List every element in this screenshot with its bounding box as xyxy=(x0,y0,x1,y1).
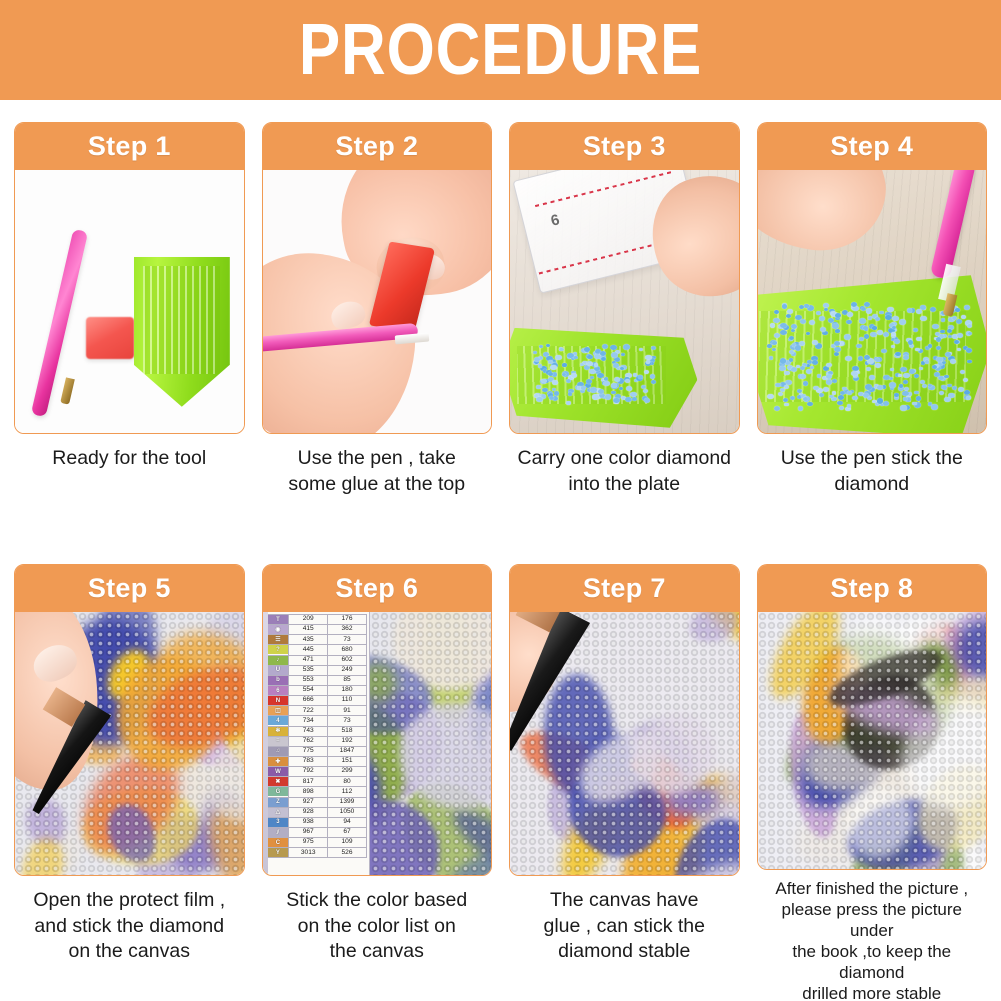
step-caption-8: After finished the picture , please pres… xyxy=(757,878,988,1001)
chart-symbol-cell: U xyxy=(267,665,289,675)
chart-count-cell: 151 xyxy=(328,756,367,766)
chart-color-swatch: ⫽ xyxy=(268,828,289,837)
chart-code-cell: 775 xyxy=(289,746,328,756)
color-chart-row: ✚783151 xyxy=(267,756,366,766)
chart-color-swatch: b xyxy=(268,676,289,685)
canvas-color-region xyxy=(684,612,738,647)
pink-pen-icon xyxy=(930,170,976,280)
chart-count-cell: 109 xyxy=(328,838,367,848)
color-chart-row: T209176 xyxy=(267,615,366,625)
chart-color-swatch: U xyxy=(268,666,289,675)
chart-code-cell: 554 xyxy=(289,685,328,695)
step-card-1: Step 1 xyxy=(14,122,245,434)
chart-edge-strip xyxy=(263,612,268,875)
chart-code-cell: 209 xyxy=(289,615,328,625)
step-caption-6: Stick the color based on the color list … xyxy=(262,888,493,965)
chart-count-cell: 299 xyxy=(328,767,367,777)
chart-symbol-cell: W xyxy=(267,767,289,777)
chart-count-cell: 1050 xyxy=(328,807,367,817)
chart-code-cell: 762 xyxy=(289,736,328,746)
chart-symbol-cell: ☰ xyxy=(267,635,289,645)
step-card-5: Step 5 xyxy=(14,564,245,876)
step-cell-6: Step 6 T209176◉415362☰43573?445680♪47160… xyxy=(262,564,493,1001)
color-chart-row: 6554180 xyxy=(267,685,366,695)
page-banner: PROCEDURE xyxy=(0,0,1001,100)
tool-photo-illustration xyxy=(15,170,244,433)
chart-symbol-cell: ✖ xyxy=(267,777,289,787)
step-cell-1: Step 1 Ready for the tool xyxy=(14,122,245,562)
chart-color-swatch: ✻ xyxy=(268,727,289,736)
chart-count-cell: 73 xyxy=(328,635,367,645)
chart-color-swatch: = xyxy=(268,737,289,746)
color-chart-row: ♪471602 xyxy=(267,655,366,665)
chart-and-canvas-illustration: T209176◉415362☰43573?445680♪471602U53524… xyxy=(263,612,492,875)
color-chart-row: △9281050 xyxy=(267,807,366,817)
chart-symbol-cell: 4 xyxy=(267,716,289,726)
color-chart-row: Y3013526 xyxy=(267,848,366,858)
step-cell-7: Step 7 The canvas have glue , can stick … xyxy=(509,564,740,1001)
color-chart-row: ?445680 xyxy=(267,645,366,655)
chart-color-swatch: ♫ xyxy=(268,747,289,756)
color-chart-row: 393894 xyxy=(267,817,366,827)
step-photo-5 xyxy=(15,612,244,875)
step-header-3: Step 3 xyxy=(510,123,739,170)
chart-symbol-cell: ♪ xyxy=(267,655,289,665)
color-chart-row: W792299 xyxy=(267,767,366,777)
steps-grid: Step 1 Ready for the tool Step 2 xyxy=(0,100,1001,1001)
green-tray-icon xyxy=(134,257,230,407)
step-header-8: Step 8 xyxy=(758,565,987,612)
chart-count-cell: 192 xyxy=(328,736,367,746)
glue-dipping-illustration xyxy=(263,170,492,433)
color-chart-table: T209176◉415362☰43573?445680♪471602U53524… xyxy=(267,614,367,858)
color-chart-row: 473473 xyxy=(267,716,366,726)
chart-color-swatch: ✖ xyxy=(268,777,289,786)
color-chart-row: Z9271399 xyxy=(267,797,366,807)
chart-color-swatch: T xyxy=(268,615,289,624)
chart-code-cell: 792 xyxy=(289,767,328,777)
chart-symbol-cell: C xyxy=(267,838,289,848)
chart-code-cell: 743 xyxy=(289,726,328,736)
chart-count-cell: 526 xyxy=(328,848,367,858)
chart-symbol-cell: Y xyxy=(267,848,289,858)
chart-symbol-cell: Z xyxy=(267,797,289,807)
step-header-1: Step 1 xyxy=(15,123,244,170)
chart-code-cell: 415 xyxy=(289,625,328,635)
chart-code-cell: 938 xyxy=(289,817,328,827)
glued-canvas-illustration xyxy=(510,612,739,875)
color-chart-row: ♫7751847 xyxy=(267,746,366,756)
color-chart-row: ⫽96767 xyxy=(267,827,366,837)
step-photo-6: T209176◉415362☰43573?445680♪471602U53524… xyxy=(263,612,492,875)
chart-code-cell: 3013 xyxy=(289,848,328,858)
chart-code-cell: 783 xyxy=(289,756,328,766)
step-card-4: Step 4 xyxy=(757,122,988,434)
step-header-2: Step 2 xyxy=(263,123,492,170)
chart-count-cell: 180 xyxy=(328,685,367,695)
chart-symbol-cell: G xyxy=(267,787,289,797)
chart-color-swatch: G xyxy=(268,787,289,796)
step-photo-7 xyxy=(510,612,739,875)
canvas-color-blobs xyxy=(758,612,987,869)
hand-icon xyxy=(758,170,894,259)
step-photo-2 xyxy=(263,170,492,433)
step-photo-8 xyxy=(758,612,987,869)
chart-color-swatch: ? xyxy=(268,645,289,654)
chart-code-cell: 553 xyxy=(289,675,328,685)
chart-color-swatch: △ xyxy=(268,808,289,817)
chart-color-swatch: 4 xyxy=(268,716,289,725)
color-chart-row: C975109 xyxy=(267,838,366,848)
chart-count-cell: 518 xyxy=(328,726,367,736)
step-caption-3: Carry one color diamond into the plate xyxy=(509,446,740,497)
chart-color-swatch: ✚ xyxy=(268,757,289,766)
step-card-6: Step 6 T209176◉415362☰43573?445680♪47160… xyxy=(262,564,493,876)
chart-symbol-cell: △ xyxy=(267,807,289,817)
color-chart-row: ◉415362 xyxy=(267,625,366,635)
step-caption-2: Use the pen , take some glue at the top xyxy=(262,446,493,497)
chart-symbol-cell: T xyxy=(267,615,289,625)
color-chart-body: T209176◉415362☰43573?445680♪471602U53524… xyxy=(267,615,366,858)
chart-symbol-cell: ♫ xyxy=(267,746,289,756)
chart-count-cell: 112 xyxy=(328,787,367,797)
chart-symbol-cell: ? xyxy=(267,645,289,655)
step-cell-3: Step 3 6 Carry one color diamond into th… xyxy=(509,122,740,562)
chart-symbol-cell: ✚ xyxy=(267,756,289,766)
chart-color-swatch: ♪ xyxy=(268,656,289,665)
chart-code-cell: 666 xyxy=(289,696,328,706)
step-cell-4: Step 4 Use the pen stick the diamond xyxy=(757,122,988,562)
step-cell-2: Step 2 Use the pen , take some glue at t… xyxy=(262,122,493,562)
color-chart-row: N666110 xyxy=(267,696,366,706)
chart-count-cell: 1399 xyxy=(328,797,367,807)
green-tray-icon xyxy=(510,328,697,428)
color-chart-row: U535249 xyxy=(267,665,366,675)
pen-tip-icon xyxy=(61,377,76,404)
chart-color-swatch: Z xyxy=(268,798,289,807)
step-photo-1 xyxy=(15,170,244,433)
chart-count-cell: 602 xyxy=(328,655,367,665)
chart-count-cell: 362 xyxy=(328,625,367,635)
color-chart-row: ☰43573 xyxy=(267,635,366,645)
chart-count-cell: 67 xyxy=(328,827,367,837)
chart-color-swatch: 6 xyxy=(268,686,289,695)
color-chart-row: ◫72291 xyxy=(267,706,366,716)
color-chart-row: G898112 xyxy=(267,787,366,797)
step-header-6: Step 6 xyxy=(263,565,492,612)
step-caption-5: Open the protect film , and stick the di… xyxy=(14,888,245,965)
canvas-art-illustration xyxy=(15,612,244,875)
chart-code-cell: 435 xyxy=(289,635,328,645)
step-header-5: Step 5 xyxy=(15,565,244,612)
chart-symbol-cell: N xyxy=(267,696,289,706)
pick-diamond-illustration xyxy=(758,170,987,433)
chart-count-cell: 85 xyxy=(328,675,367,685)
step-card-8: Step 8 xyxy=(757,564,988,870)
chart-symbol-cell: ✻ xyxy=(267,726,289,736)
step-card-3: Step 3 6 xyxy=(509,122,740,434)
chart-count-cell: 80 xyxy=(328,777,367,787)
chart-color-swatch: Y xyxy=(268,848,289,857)
chart-color-swatch: ◫ xyxy=(268,706,289,715)
color-chart-row: b55385 xyxy=(267,675,366,685)
step-caption-7: The canvas have glue , can stick the dia… xyxy=(509,888,740,965)
chart-code-cell: 928 xyxy=(289,807,328,817)
chart-code-cell: 722 xyxy=(289,706,328,716)
step-cell-8: Step 8 After finished the picture , plea… xyxy=(757,564,988,1001)
chart-color-swatch: W xyxy=(268,767,289,776)
finished-painting-illustration xyxy=(758,612,987,869)
chart-code-cell: 898 xyxy=(289,787,328,797)
chart-code-cell: 445 xyxy=(289,645,328,655)
chart-symbol-cell: 3 xyxy=(267,817,289,827)
chart-color-swatch: ☰ xyxy=(268,635,289,644)
chart-code-cell: 927 xyxy=(289,797,328,807)
chart-color-swatch: C xyxy=(268,838,289,847)
chart-symbol-cell: 6 xyxy=(267,685,289,695)
chart-count-cell: 110 xyxy=(328,696,367,706)
step-photo-3: 6 xyxy=(510,170,739,433)
color-chart-row: ✻743518 xyxy=(267,726,366,736)
chart-code-cell: 535 xyxy=(289,665,328,675)
color-chart-panel: T209176◉415362☰43573?445680♪471602U53524… xyxy=(263,612,370,875)
chart-symbol-cell: = xyxy=(267,736,289,746)
pink-pen-icon xyxy=(30,229,87,418)
chart-color-swatch: N xyxy=(268,696,289,705)
chart-count-cell: 680 xyxy=(328,645,367,655)
chart-color-swatch: 3 xyxy=(268,818,289,827)
chart-count-cell: 91 xyxy=(328,706,367,716)
chart-symbol-cell: ⫽ xyxy=(267,827,289,837)
step-header-4: Step 4 xyxy=(758,123,987,170)
chart-count-cell: 1847 xyxy=(328,746,367,756)
chart-color-swatch: ◉ xyxy=(268,625,289,634)
red-wax-icon xyxy=(86,317,134,359)
step-cell-5: Step 5 Open the protect film , and stick… xyxy=(14,564,245,1001)
step-card-7: Step 7 xyxy=(509,564,740,876)
step-caption-1: Ready for the tool xyxy=(14,446,245,472)
chart-code-cell: 975 xyxy=(289,838,328,848)
step-header-7: Step 7 xyxy=(510,565,739,612)
color-chart-row: =762192 xyxy=(267,736,366,746)
chart-count-cell: 249 xyxy=(328,665,367,675)
chart-code-cell: 817 xyxy=(289,777,328,787)
chart-count-cell: 94 xyxy=(328,817,367,827)
chart-symbol-cell: b xyxy=(267,675,289,685)
chart-code-cell: 967 xyxy=(289,827,328,837)
chart-symbol-cell: ◫ xyxy=(267,706,289,716)
chart-symbol-cell: ◉ xyxy=(267,625,289,635)
pour-diamonds-illustration: 6 xyxy=(510,170,739,433)
step-photo-4 xyxy=(758,170,987,433)
step-card-2: Step 2 xyxy=(262,122,493,434)
step-caption-4: Use the pen stick the diamond xyxy=(757,446,988,497)
color-chart-row: ✖81780 xyxy=(267,777,366,787)
chart-count-cell: 73 xyxy=(328,716,367,726)
page-title: PROCEDURE xyxy=(299,14,702,86)
chart-code-cell: 471 xyxy=(289,655,328,665)
chart-code-cell: 734 xyxy=(289,716,328,726)
chart-count-cell: 176 xyxy=(328,615,367,625)
